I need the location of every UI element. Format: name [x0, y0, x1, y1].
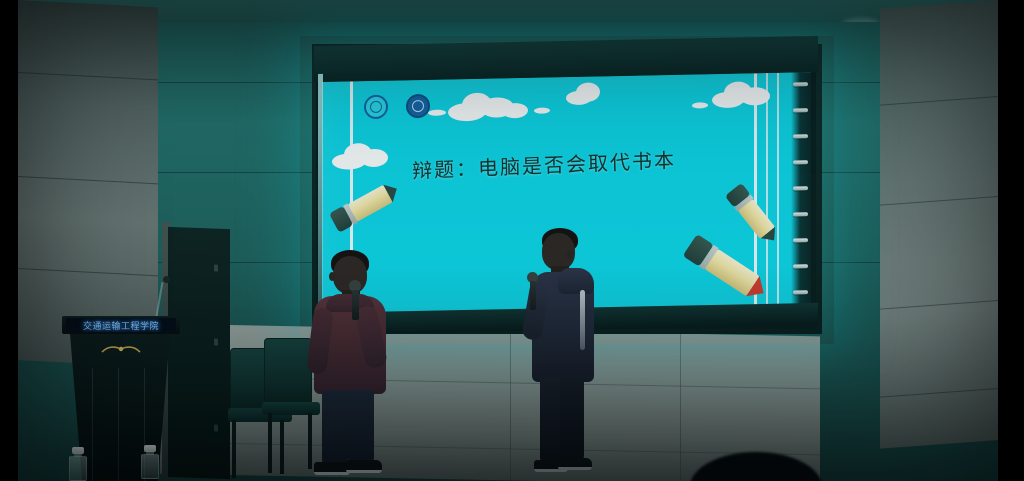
speaker-right-hood	[558, 268, 594, 294]
left-wall-panel	[18, 0, 158, 367]
water-bottle-1[interactable]	[68, 447, 88, 481]
podium-emblem-icon	[100, 343, 142, 355]
microphone-right[interactable]	[527, 272, 538, 310]
speaker-right-sleeve-print	[580, 290, 585, 350]
speaker-left-leg-a	[322, 390, 348, 464]
speaker-left-shoe-b	[346, 460, 382, 473]
speaker-right-leg-b	[560, 378, 584, 460]
speaker-left-leg-b	[348, 390, 374, 462]
cloud-3-wisp	[692, 102, 708, 108]
right-wall-panel	[880, 0, 998, 449]
speaker-right[interactable]	[518, 228, 610, 481]
cloud-1-wisp-b	[534, 107, 550, 113]
water-bottle-2[interactable]	[140, 445, 160, 479]
university-emblem-icon	[364, 95, 388, 129]
slide-title: 辩题：电脑是否会取代书本	[412, 144, 677, 184]
lecture-hall-scene: 辩题：电脑是否会取代书本 交通运输工程学院	[0, 0, 1024, 481]
podium-mic-head-icon	[163, 276, 170, 283]
microphone-left[interactable]	[349, 280, 361, 320]
speaker-right-shoe-b	[558, 458, 592, 470]
speaker-left-shoe-a	[314, 462, 350, 475]
letterbox-right	[998, 0, 1024, 481]
spiral-binding-rail	[791, 72, 811, 313]
slide-logos	[364, 94, 430, 129]
podium-top: 交通运输工程学院	[62, 316, 180, 334]
association-emblem-icon	[406, 94, 430, 128]
podium-led-text: 交通运输工程学院	[83, 319, 159, 332]
pencil-left	[326, 174, 404, 238]
cloud-1-wisp	[428, 110, 446, 116]
letterbox-left	[0, 0, 18, 481]
podium-led-display: 交通运输工程学院	[66, 318, 176, 332]
